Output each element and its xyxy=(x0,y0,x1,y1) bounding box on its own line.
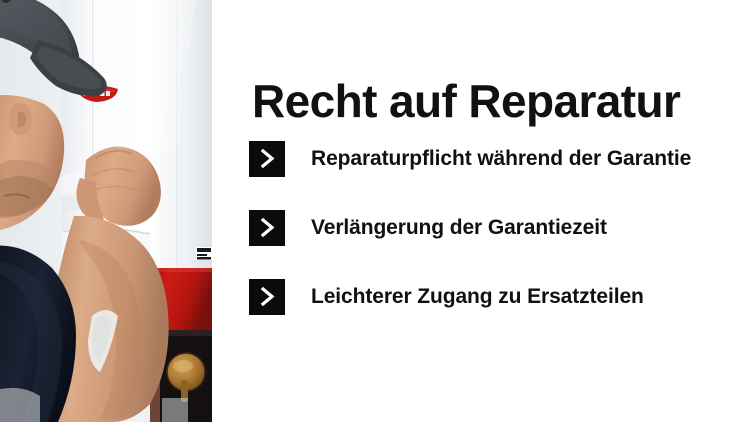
slide-root: Recht auf Reparatur Reparaturpflicht wäh… xyxy=(0,0,750,422)
list-item[interactable]: Leichterer Zugang zu Ersatzteilen xyxy=(249,278,719,315)
content-panel: Recht auf Reparatur Reparaturpflicht wäh… xyxy=(212,0,750,422)
list-item-label: Reparaturpflicht während der Garantie xyxy=(311,146,691,172)
hero-photo xyxy=(0,0,212,422)
appliance-sticker xyxy=(196,247,212,260)
list-item[interactable]: Verlängerung der Garantiezeit xyxy=(249,209,719,246)
list-item-label: Leichterer Zugang zu Ersatzteilen xyxy=(311,284,644,310)
chevron-right-icon xyxy=(249,279,285,315)
chevron-right-icon xyxy=(249,210,285,246)
list-item-label: Verlängerung der Garantiezeit xyxy=(311,215,607,241)
chevron-right-icon xyxy=(249,141,285,177)
list-item[interactable]: Reparaturpflicht während der Garantie xyxy=(249,140,719,177)
page-title: Recht auf Reparatur xyxy=(252,75,680,127)
bullet-list: Reparaturpflicht während der Garantie Ve… xyxy=(249,140,719,315)
